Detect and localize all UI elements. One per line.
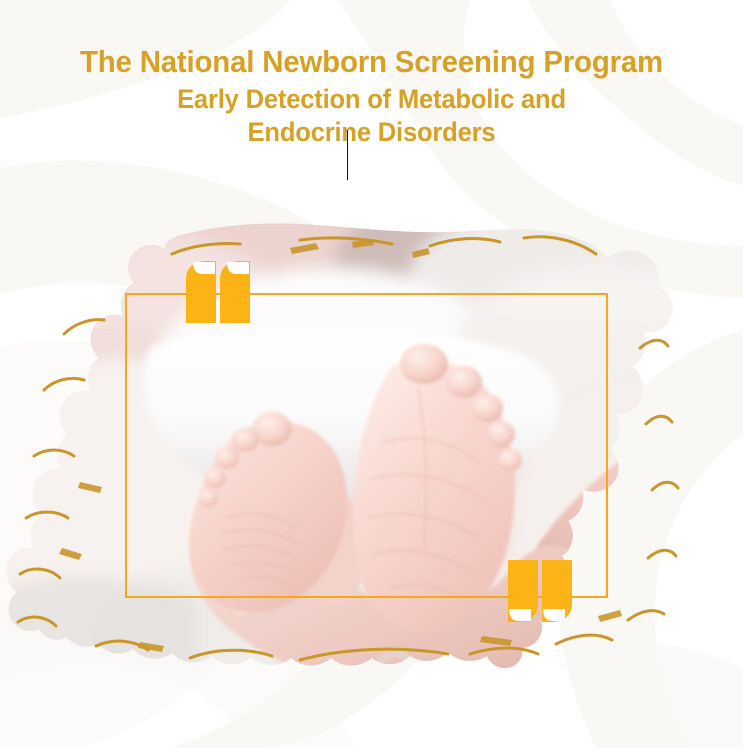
text-cursor-caret	[347, 130, 348, 180]
open-quote-icon	[186, 261, 250, 323]
title-line-1: The National Newborn Screening Program	[13, 47, 730, 78]
title-line-2: Early Detection of Metabolic and	[13, 86, 730, 113]
page-title: The National Newborn Screening Program E…	[0, 47, 743, 146]
photo-container	[0, 218, 743, 688]
newborn-feet-photo	[0, 218, 743, 688]
close-quote-icon	[508, 560, 572, 622]
slide-canvas: The National Newborn Screening Program E…	[0, 0, 743, 748]
title-line-3: Endocrine Disorders	[13, 119, 730, 146]
